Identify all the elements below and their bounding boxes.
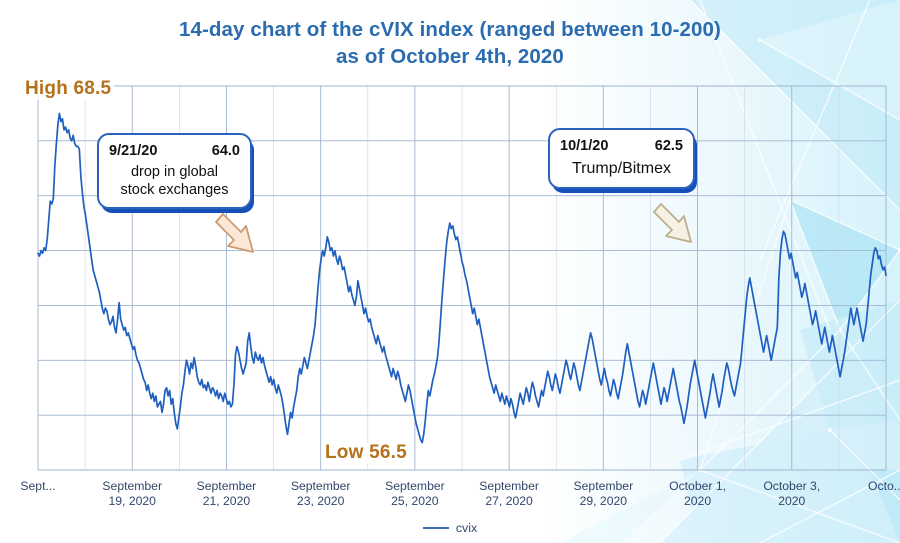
x-axis-tick-1: September19, 2020 <box>102 479 162 509</box>
callout-arrow-2 <box>654 204 691 242</box>
high-value-label: High 68.5 <box>22 78 114 100</box>
callout-1-note-line-1: drop in global <box>109 164 240 182</box>
x-axis-tick-2: September21, 2020 <box>197 479 257 509</box>
x-axis-tick-4: September25, 2020 <box>385 479 445 509</box>
x-axis-tick-9: Octo... <box>868 479 900 494</box>
annotation-callout-trump-bitmex[interactable]: 10/1/20 62.5 Trump/Bitmex <box>548 128 695 189</box>
callout-1-value: 64.0 <box>212 142 240 161</box>
x-axis-tick-8: October 3,2020 <box>763 479 820 509</box>
callout-1-header: 9/21/20 64.0 <box>109 142 240 161</box>
chart-screenshot: 14-day chart of the cVIX index (ranged b… <box>0 0 900 543</box>
chart-legend: cvix <box>0 521 900 535</box>
callout-2-note-line-1: Trump/Bitmex <box>560 159 683 179</box>
callout-1-note-line-2: stock exchanges <box>109 182 240 200</box>
callout-2-value: 62.5 <box>655 137 683 156</box>
x-axis-tick-3: September23, 2020 <box>291 479 351 509</box>
legend-swatch-cvix <box>423 527 449 529</box>
legend-label-cvix: cvix <box>456 521 477 535</box>
line-chart-plot <box>0 0 900 543</box>
x-axis-tick-6: September29, 2020 <box>574 479 634 509</box>
low-value-label: Low 56.5 <box>322 442 410 464</box>
x-axis-tick-0: Sept... <box>20 479 55 494</box>
x-axis-tick-7: October 1,2020 <box>669 479 726 509</box>
annotation-callout-drop-in-global-stock-exchanges[interactable]: 9/21/20 64.0 drop in global stock exchan… <box>97 133 252 209</box>
callout-2-date: 10/1/20 <box>560 137 608 156</box>
x-axis-tick-5: September27, 2020 <box>479 479 539 509</box>
callout-1-date: 9/21/20 <box>109 142 157 161</box>
callout-2-header: 10/1/20 62.5 <box>560 137 683 156</box>
callout-arrow-1 <box>216 214 253 252</box>
